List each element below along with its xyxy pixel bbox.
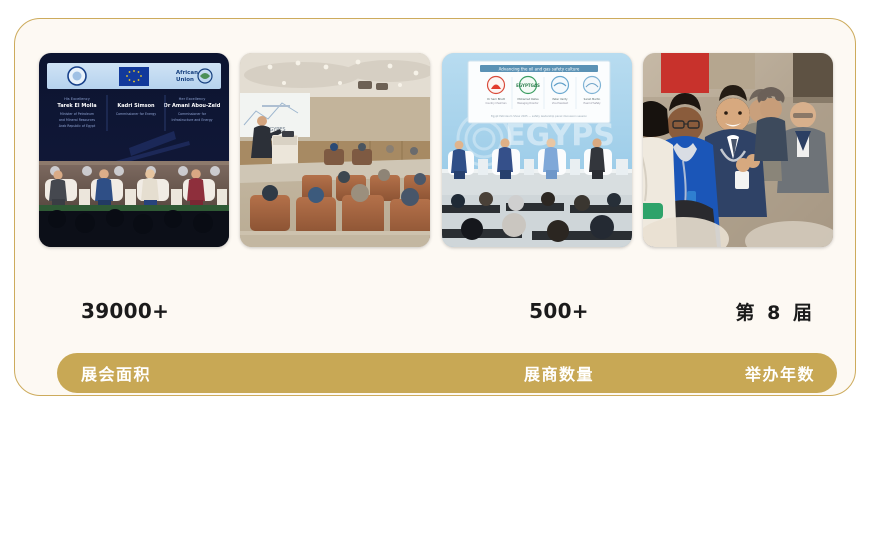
svg-text:Arab Republic of Egypt: Arab Republic of Egypt — [59, 124, 96, 128]
svg-text:Commissioner for: Commissioner for — [178, 112, 207, 116]
stat-value-cell-2: 500+ — [409, 293, 709, 329]
stat-value-edition-number: 第 8 届 — [736, 298, 815, 325]
stat-label-exhibitor-count: 展商数量 — [524, 361, 594, 385]
svg-text:Peter Verity: Peter Verity — [552, 97, 568, 101]
gallery-photo-audience-delegates[interactable] — [643, 53, 833, 247]
svg-text:Dr Sam Bhatt: Dr Sam Bhatt — [487, 97, 505, 101]
svg-text:Kadri Simson: Kadri Simson — [117, 103, 155, 109]
stats-card: African Union His Excellency Tarek El Mo… — [14, 18, 856, 396]
svg-text:Country Chairman: Country Chairman — [485, 102, 507, 105]
stat-value-exhibition-area: 39000+ — [81, 299, 169, 323]
svg-text:Vice President: Vice President — [552, 102, 568, 105]
gallery-photo-panel-eu-african-union[interactable]: African Union His Excellency Tarek El Mo… — [39, 53, 229, 247]
svg-text:Egypt Petroleum Show 2025 — sa: Egypt Petroleum Show 2025 — safety leade… — [491, 114, 587, 118]
svg-text:Advancing the oil and gas safe: Advancing the oil and gas safety culture — [498, 67, 579, 72]
svg-text:Commissioner for Energy: Commissioner for Energy — [116, 112, 156, 116]
svg-text:Minister of Petroleum: Minister of Petroleum — [60, 112, 94, 116]
gallery-photo-safety-culture-panel[interactable]: EGYPS Advancing the oil and gas safety c… — [442, 53, 632, 247]
stat-label-cell-2: 展商数量 — [409, 353, 709, 393]
footer-branding-bar: EGYPES EGYPT ENERGY SHOW Supported by وز… — [0, 405, 870, 553]
photo-gallery: African Union His Excellency Tarek El Mo… — [39, 53, 833, 247]
stats-label-bar: 展会面积 展商数量 举办年数 — [57, 353, 837, 393]
stat-value-cell-3: 第 8 届 — [709, 293, 837, 329]
svg-text:Tarek El Molla: Tarek El Molla — [57, 103, 96, 109]
svg-text:Mohamed Rafea: Mohamed Rafea — [517, 97, 538, 101]
stat-label-cell-1: 展会面积 — [57, 353, 409, 393]
svg-text:His Excellency: His Excellency — [64, 97, 91, 101]
svg-text:Sarah Martin: Sarah Martin — [583, 97, 600, 101]
stats-values-row: 39000+ 500+ 第 8 届 — [57, 293, 837, 329]
stat-value-cell-1: 39000+ — [57, 293, 409, 329]
svg-text:Union: Union — [176, 77, 194, 83]
svg-text:Her Excellency: Her Excellency — [179, 97, 207, 101]
svg-text:Managing Director: Managing Director — [517, 102, 538, 105]
svg-text:and Mineral Resources: and Mineral Resources — [59, 118, 95, 122]
stat-label-cell-3: 举办年数 — [709, 353, 837, 393]
stat-label-edition-number: 举办年数 — [745, 361, 815, 385]
svg-text:Head of Safety: Head of Safety — [583, 102, 601, 105]
stat-value-exhibitor-count: 500+ — [529, 299, 589, 323]
svg-text:Dr Amani Abou-Zeid: Dr Amani Abou-Zeid — [164, 103, 221, 109]
svg-text:EGYPTGAS: EGYPTGAS — [516, 83, 540, 88]
stat-label-exhibition-area: 展会面积 — [81, 361, 151, 385]
promo-banner: African Union His Excellency Tarek El Mo… — [0, 0, 870, 553]
gallery-photo-auditorium-presentation[interactable]: EGYPES — [240, 53, 430, 247]
svg-text:African: African — [176, 70, 198, 76]
svg-text:Infrastructure and Energy: Infrastructure and Energy — [172, 118, 213, 122]
